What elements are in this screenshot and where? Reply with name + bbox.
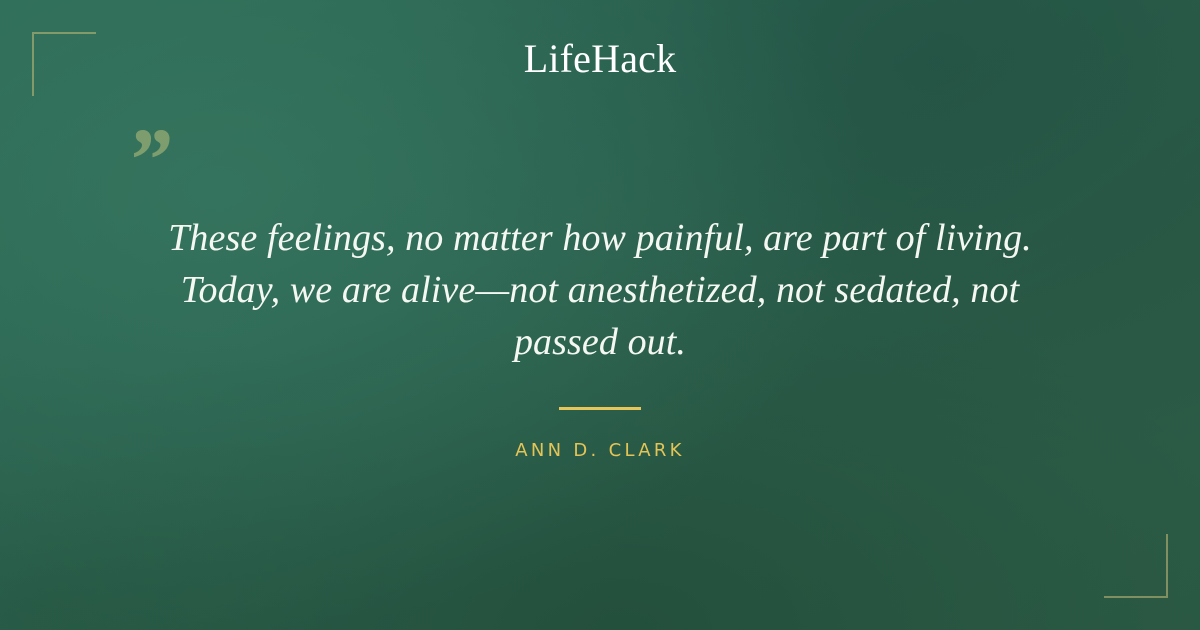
corner-bracket-bottom-right-icon	[1104, 534, 1168, 598]
quote-line-1: These feelings, no matter how painful, a…	[100, 212, 1100, 264]
quote-line-2: Today, we are alive—not anesthetized, no…	[100, 264, 1100, 316]
quote-text: These feelings, no matter how painful, a…	[100, 212, 1100, 368]
lifehack-logo: LifeHack	[0, 39, 1200, 79]
quote-author: ANN D. CLARK	[0, 439, 1200, 463]
quote-line-3: passed out.	[100, 316, 1100, 368]
quote-card: LifeHack ” These feelings, no matter how…	[0, 0, 1200, 630]
gold-divider	[559, 407, 641, 410]
quotation-mark-icon: ”	[126, 116, 171, 206]
